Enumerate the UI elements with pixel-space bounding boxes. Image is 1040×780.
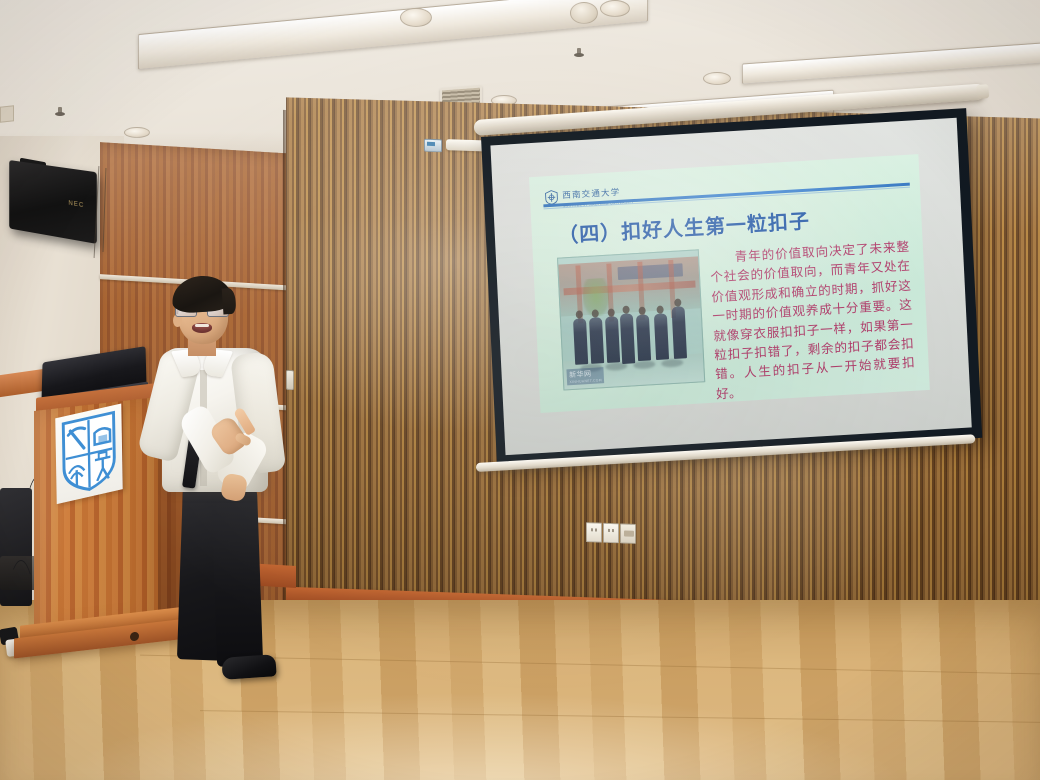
university-crest-plaque [55,403,122,504]
sprinkler-head-icon [55,107,65,120]
photo-watermark: 新华网 XINHUANET.COM [567,367,604,385]
presenter [128,272,288,672]
presenter-mouth [192,323,212,333]
presenter-legs [178,484,270,674]
slide-body: 新华网 XINHUANET.COM 青年的价值取向决定了未来整个社会的价值取向，… [557,237,922,413]
power-outlet-icon[interactable] [603,523,619,544]
speaker-brand-label: NEC [68,201,84,210]
ceiling-downlight-icon [124,127,150,138]
projection-screen-surface: 西南交通大学 SOUTHWEST JIAOTONG UNIVERSITY （四）… [490,118,971,455]
smoke-detector-icon [570,2,598,24]
power-outlet-icon[interactable] [586,522,602,543]
presenter-hair [171,274,233,314]
projection-screen: 西南交通大学 SOUTHWEST JIAOTONG UNIVERSITY （四）… [481,108,982,466]
presentation-slide: 西南交通大学 SOUTHWEST JIAOTONG UNIVERSITY （四）… [529,154,930,412]
wall-outlet-group[interactable] [586,522,636,544]
presenter-shoe [221,654,276,680]
ceiling-light-troffer [742,43,1040,85]
ceiling-downlight-icon [703,72,731,85]
photo-watermark-subtext: XINHUANET.COM [569,378,602,384]
ceiling-downlight-icon [600,0,630,17]
ceiling-downlight-icon [400,8,432,27]
university-crest-icon [59,408,118,499]
wall-control-panel[interactable] [424,139,442,153]
university-name-cn: 西南交通大学 [562,188,621,201]
slide-text-block: 青年的价值取向决定了未来整个社会的价值取向，而青年又处在价值观形成和确立的时期，… [709,237,922,413]
presenter-trouser-leg [211,483,263,666]
slide-photo: 新华网 XINHUANET.COM [557,249,705,390]
data-port-icon[interactable] [620,523,636,544]
sprinkler-head-icon [574,48,584,61]
hvac-vent-edge [0,105,14,122]
lecture-hall-scene: NEC 西南交通大学 [0,0,1040,780]
slide-paragraph: 青年的价值取向决定了未来整个社会的价值取向，而青年又处在价值观形成和确立的时期，… [709,237,916,404]
photo-watermark-text: 新华网 [569,370,592,379]
